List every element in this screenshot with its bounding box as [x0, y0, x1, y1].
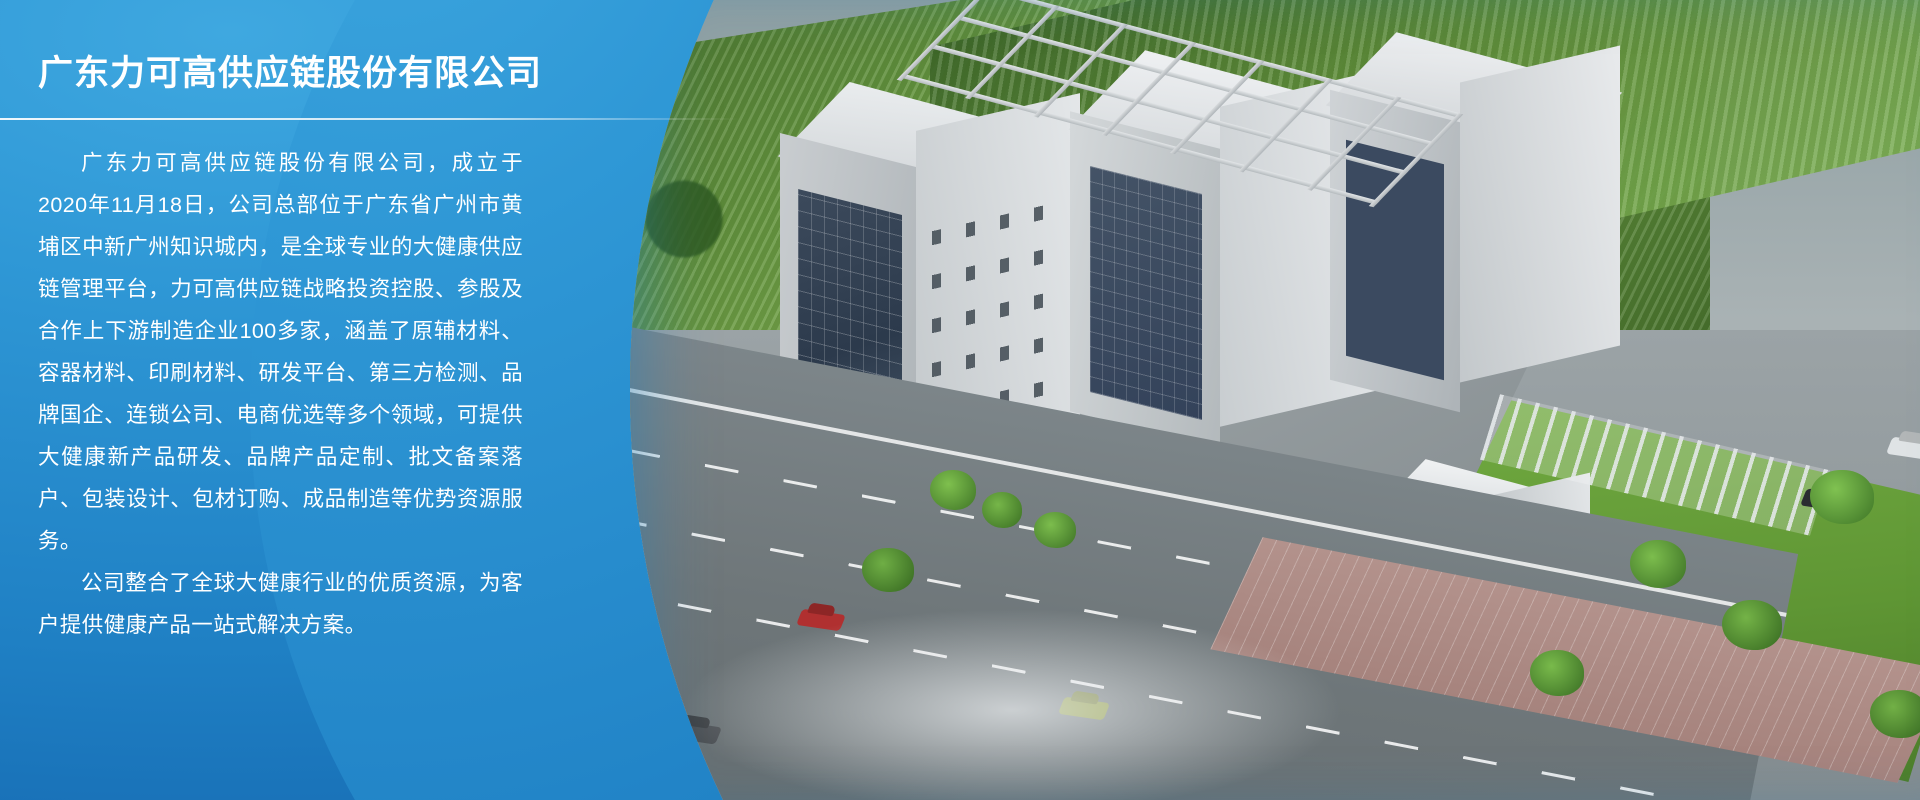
paragraph-2: 公司整合了全球大健康行业的优质资源，为客户提供健康产品一站式解决方案。 [38, 562, 523, 646]
aerial-rendering: 中新知识城产业园 [630, 0, 1920, 800]
intro-panel: 广东力可高供应链股份有限公司 广东力可高供应链股份有限公司，成立于2020年11… [0, 0, 660, 800]
paragraph-1: 广东力可高供应链股份有限公司，成立于2020年11月18日，公司总部位于广东省广… [38, 142, 523, 562]
company-description: 广东力可高供应链股份有限公司，成立于2020年11月18日，公司总部位于广东省广… [38, 142, 523, 646]
hero-banner: 中新知识城产业园 [0, 0, 1920, 800]
title-divider [0, 118, 740, 120]
photo-edge-blend [630, 0, 1920, 800]
hero-image: 中新知识城产业园 [630, 0, 1920, 800]
page-title: 广东力可高供应链股份有限公司 [38, 52, 660, 96]
hero-image-mask: 中新知识城产业园 [630, 0, 1920, 800]
